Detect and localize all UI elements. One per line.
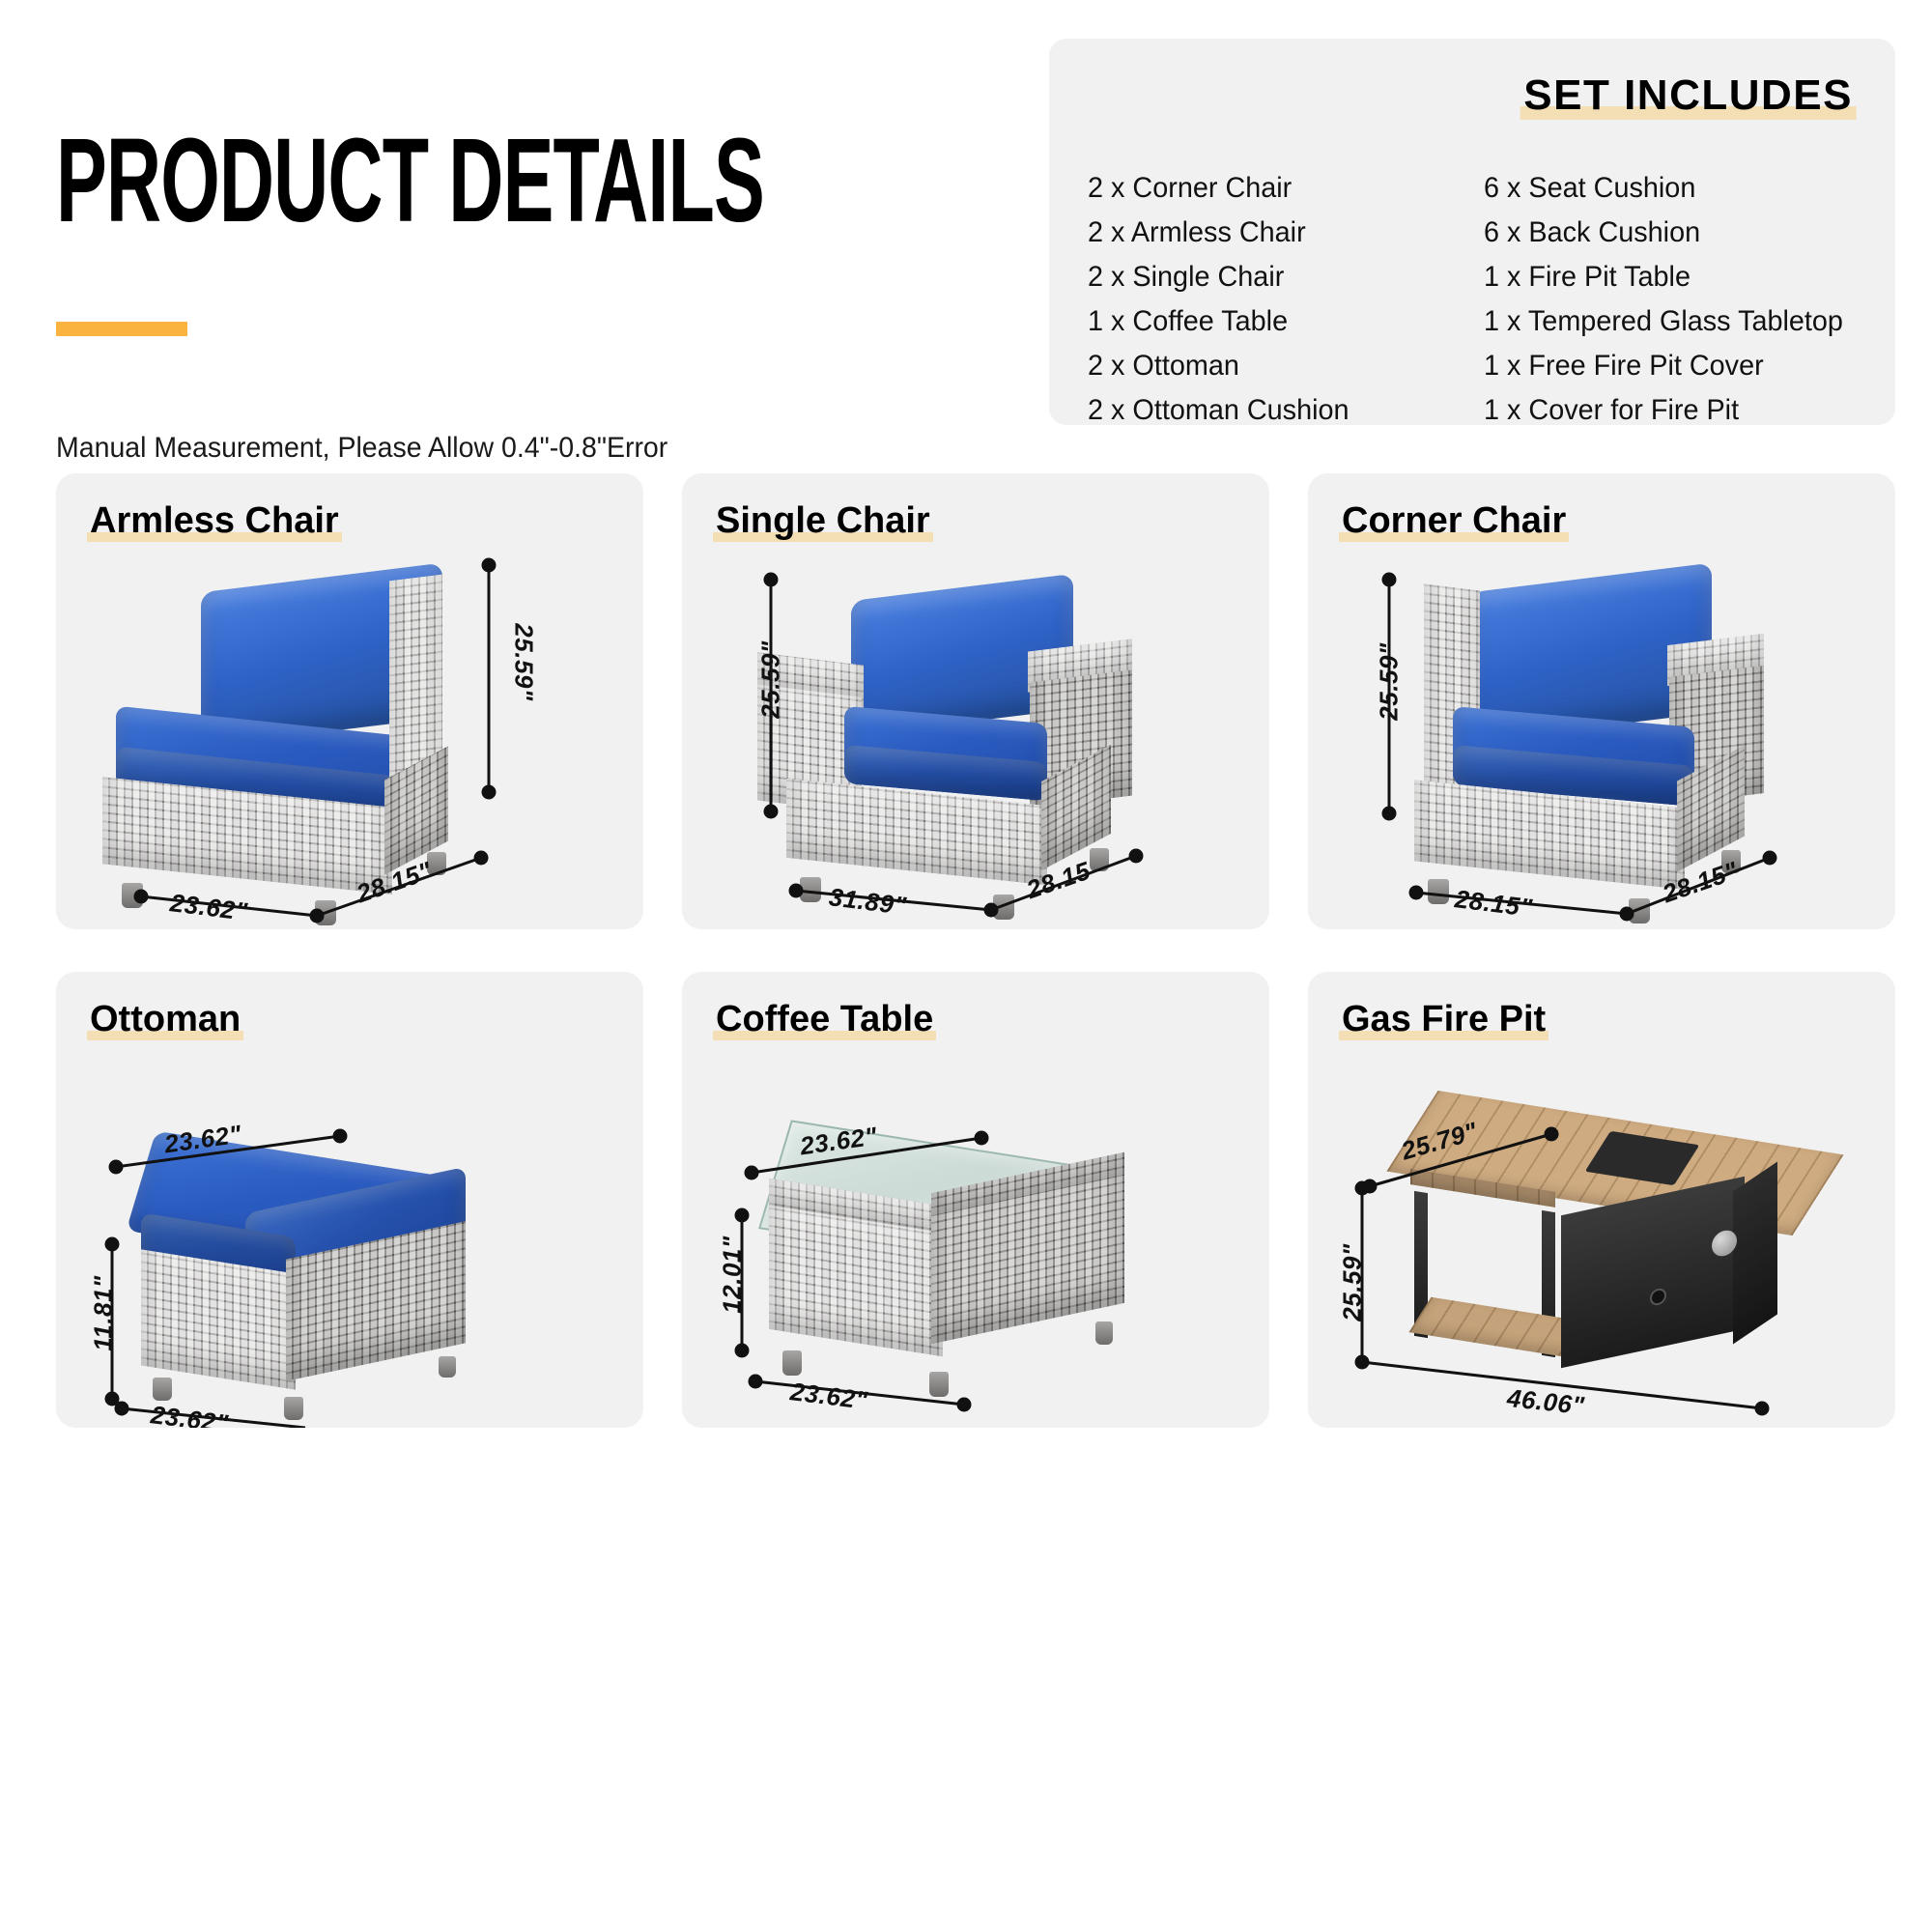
- dimension-height: 12.01": [718, 1236, 748, 1313]
- set-item: 2 x Ottoman Cushion: [1088, 388, 1459, 433]
- product-card-single-chair: Single Chair: [682, 473, 1269, 929]
- product-card-gas-fire-pit: Gas Fire Pit: [1308, 972, 1895, 1428]
- product-card-armless-chair: Armless Chair: [56, 473, 643, 929]
- product-card-ottoman: Ottoman: [56, 972, 643, 1428]
- title-accent-bar: [56, 322, 187, 336]
- dimension-height: 25.59": [1375, 642, 1405, 720]
- product-card-coffee-table: Coffee Table: [682, 972, 1269, 1428]
- dimension-depth: 23.62": [149, 1400, 230, 1428]
- set-item: 6 x Seat Cushion: [1484, 166, 1843, 211]
- card-title: Single Chair: [713, 500, 933, 542]
- set-item: 1 x Fire Pit Table: [1484, 255, 1843, 299]
- dimension-width: 31.89": [827, 882, 908, 922]
- measurement-note: Manual Measurement, Please Allow 0.4"-0.…: [56, 432, 668, 465]
- set-includes-panel: SET INCLUDES 2 x Corner Chair 6 x Seat C…: [1049, 39, 1895, 425]
- dimension-height: 11.81": [89, 1275, 119, 1350]
- product-cards-grid: Armless Chair: [56, 473, 1895, 1428]
- dimension-depth: 23.62": [788, 1377, 869, 1416]
- set-item: 1 x Cover for Fire Pit: [1484, 388, 1843, 433]
- dimension-width: 23.62": [168, 888, 249, 927]
- set-item: 2 x Single Chair: [1088, 255, 1459, 299]
- set-includes-list: 2 x Corner Chair 6 x Seat Cushion 2 x Ar…: [1088, 166, 1857, 433]
- dimension-depth: 46.06": [1506, 1383, 1586, 1421]
- set-item: 2 x Corner Chair: [1088, 166, 1459, 211]
- set-item: 1 x Coffee Table: [1088, 299, 1459, 344]
- page-title: PRODUCT DETAILS: [56, 114, 764, 250]
- card-title: Gas Fire Pit: [1339, 999, 1548, 1040]
- set-item: 2 x Ottoman: [1088, 344, 1459, 388]
- dimension-height: 25.59": [756, 640, 786, 718]
- dimension-height: 25.59": [1338, 1243, 1368, 1321]
- set-item: 6 x Back Cushion: [1484, 211, 1843, 255]
- dimension-width: 28.15": [1453, 884, 1534, 923]
- set-item: 1 x Free Fire Pit Cover: [1484, 344, 1843, 388]
- set-item: 2 x Armless Chair: [1088, 211, 1459, 255]
- card-title: Armless Chair: [87, 500, 342, 542]
- set-includes-title: SET INCLUDES: [1520, 71, 1857, 120]
- set-item: 1 x Tempered Glass Tabletop: [1484, 299, 1843, 344]
- card-title: Coffee Table: [713, 999, 936, 1040]
- product-card-corner-chair: Corner Chair: [1308, 473, 1895, 929]
- card-title: Ottoman: [87, 999, 243, 1040]
- dimension-height: 25.59": [509, 623, 539, 700]
- card-title: Corner Chair: [1339, 500, 1569, 542]
